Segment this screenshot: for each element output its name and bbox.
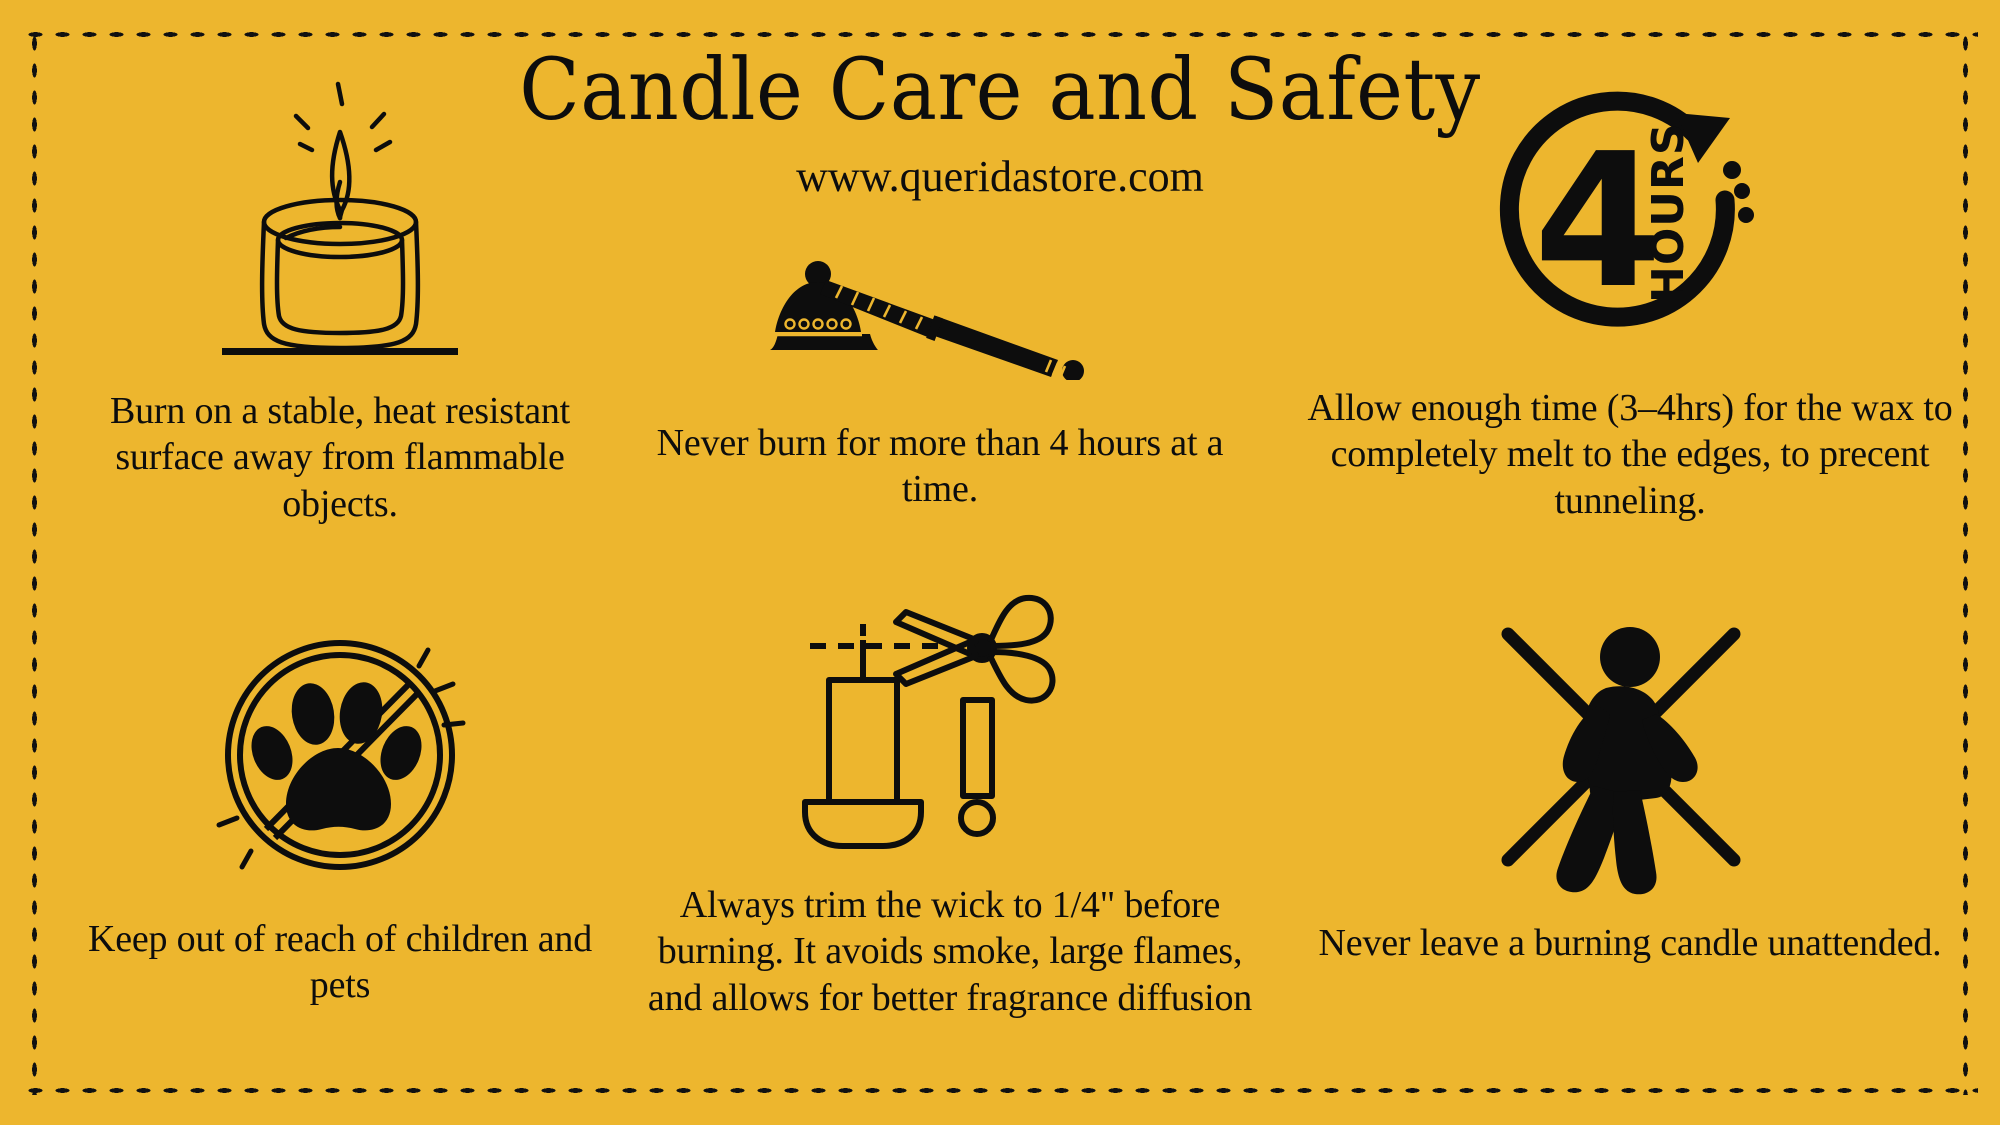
tip-text: Never leave a burning candle unattended. [1300, 920, 1960, 966]
tip-stable-surface: Burn on a stable, heat resistant surface… [60, 70, 620, 527]
tip-full-melt: 4 HOURS Allow enough time (3–4hrs) for t… [1300, 75, 1960, 524]
candle-in-jar-icon [60, 70, 620, 370]
dotted-border-top [22, 30, 1978, 39]
four-hours-clock-icon: 4 HOURS [1300, 75, 1960, 375]
dotted-border-bottom [22, 1086, 1978, 1095]
no-pets-paw-icon [60, 600, 620, 900]
icon-unit-hours: HOURS [1643, 122, 1694, 303]
candle-snuffer-icon [640, 240, 1240, 380]
no-walking-away-icon [1300, 600, 1960, 900]
tip-unattended: Never leave a burning candle unattended. [1300, 600, 1960, 966]
dotted-border-right [1961, 30, 1970, 1095]
tip-text: Allow enough time (3–4hrs) for the wax t… [1300, 385, 1960, 524]
tip-text: Always trim the wick to 1/4" before burn… [620, 882, 1280, 1021]
tip-four-hours: Never burn for more than 4 hours at a ti… [640, 240, 1240, 513]
tip-no-pets: Keep out of reach of children and pets [60, 600, 620, 1009]
tip-text: Burn on a stable, heat resistant surface… [60, 388, 620, 527]
tip-text: Never burn for more than 4 hours at a ti… [640, 420, 1240, 513]
tip-trim-wick: Always trim the wick to 1/4" before burn… [620, 580, 1280, 1021]
poster-canvas: Candle Care and Safety www.queridastore.… [0, 0, 2000, 1125]
tip-text: Keep out of reach of children and pets [60, 916, 620, 1009]
wick-trimming-scissors-icon [620, 580, 1280, 860]
dotted-border-left [30, 30, 39, 1095]
